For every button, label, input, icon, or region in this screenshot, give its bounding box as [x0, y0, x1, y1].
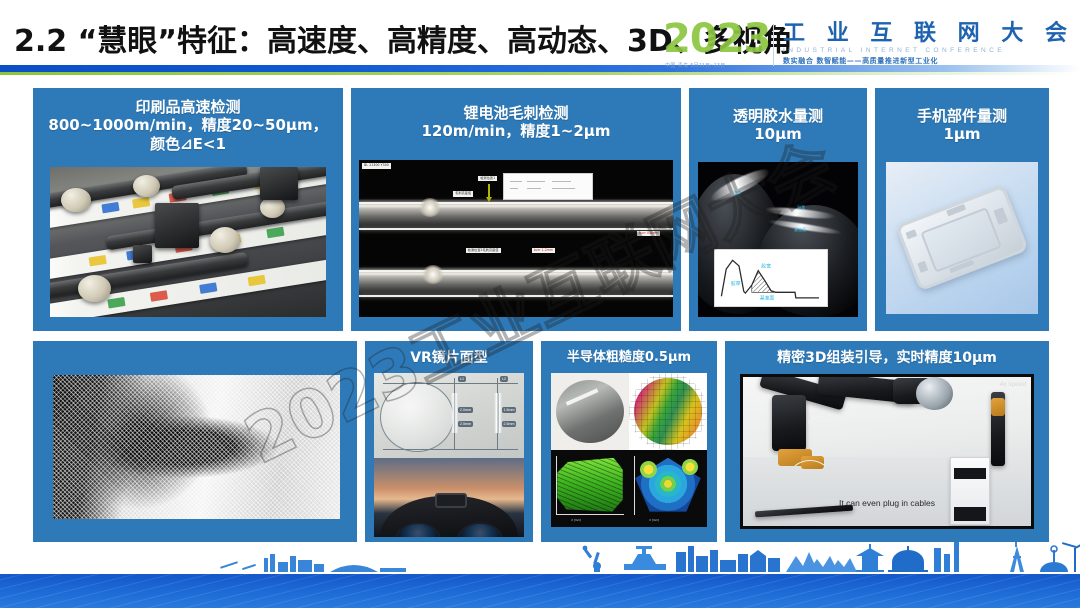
- battery-burr-microscope-image: BL 21300 Y300 检测位置1 毛刺高度值 burr 0.8mm 检测位…: [359, 160, 673, 317]
- panel-print-title-line3: 颜色⊿E<1: [41, 135, 335, 153]
- glue-profile-chart: 胶厚 胶宽 基准面: [715, 250, 827, 306]
- city-skyline-graphic: [0, 542, 1080, 576]
- wafer-roughness-four-views: X [mm] X [mm]: [551, 373, 707, 527]
- logo-year-block: 2023 中国·青岛 5月11日~13日: [663, 22, 771, 74]
- panel-battery-title-line2: 120m/min，精度1~2μm: [359, 122, 673, 140]
- panel-print-title: 印刷品高速检测 800~1000m/min，精度20~50μm， 颜色⊿E<1: [41, 98, 335, 153]
- vr-lens-profile-and-headset: L1 L2 2.0mm 2.5mm 1.5mm 2.5mm: [374, 373, 524, 537]
- video-caption: It can even plug in cables: [743, 498, 1031, 508]
- panel-glue-title-line2: 10μm: [693, 125, 863, 143]
- panel-vr-title-line1: VR镜片面型: [369, 350, 529, 367]
- panel-semi-title: 半导体粗糙度0.5μm: [544, 350, 714, 366]
- svg-text:基准面: 基准面: [760, 294, 775, 301]
- wafer-interference-cell: [629, 373, 707, 450]
- panel-battery-title-line1: 锂电池毛刺检测: [359, 104, 673, 122]
- logo-name-block: 工 业 互 联 网 大 会 INDUSTRIAL INTERNET CONFER…: [783, 22, 1074, 66]
- logo-year: 2023: [663, 16, 770, 62]
- panel-semiconductor-roughness: 半导体粗糙度0.5μm X [mm]: [541, 341, 717, 543]
- panel-robot-title: 精密3D组装引导，实时精度10μm: [731, 350, 1043, 367]
- robot-arm-video[interactable]: 4x speed It can even plug in cables: [740, 374, 1034, 529]
- svg-text:胶厚: 胶厚: [731, 280, 741, 287]
- logo-slogan: 数实融合 数智赋能——高质量推进新型工业化: [783, 56, 1074, 66]
- logo-date: 中国·青岛 5月11日~13日: [665, 62, 726, 69]
- surface-3d-green-cell: X [mm]: [551, 450, 629, 527]
- logo-chinese-name: 工 业 互 联 网 大 会: [783, 22, 1074, 46]
- conference-logo: 2023 中国·青岛 5月11日~13日 工 业 互 联 网 大 会 INDUS…: [663, 22, 1074, 74]
- content-grid: 印刷品高速检测 800~1000m/min，精度20~50μm， 颜色⊿E<1: [33, 88, 1049, 543]
- panel-transparent-glue: 透明胶水量测 10μm 胶厚 胶宽 基准面: [689, 88, 867, 331]
- logo-divider: [773, 24, 774, 66]
- panel-phone-title: 手机部件量测 1μm: [879, 107, 1045, 144]
- logo-english-name: INDUSTRIAL INTERNET CONFERENCE: [783, 47, 1074, 54]
- panel-battery-title: 锂电池毛刺检测 120m/min，精度1~2μm: [359, 104, 673, 141]
- panel-phone-part: 手机部件量测 1μm: [875, 88, 1049, 331]
- slide-footer: [0, 542, 1080, 608]
- glue-profile-image: 胶厚 胶宽 基准面 胶厚 胶宽: [698, 162, 858, 317]
- panel-print-inspection: 印刷品高速检测 800~1000m/min，精度20~50μm， 颜色⊿E<1: [33, 88, 343, 331]
- surface-3d-blue-cell: X [mm]: [629, 450, 707, 527]
- panel-robot-title-line1: 精密3D组装引导，实时精度10μm: [731, 350, 1043, 367]
- panel-semi-title-line1: 半导体粗糙度0.5μm: [544, 350, 714, 366]
- panel-glue-title-line1: 透明胶水量测: [693, 107, 863, 125]
- slide-root: 2.2 “慧眼”特征：高速度、高精度、高动态、3D、多视角 2023 中国·青岛…: [0, 0, 1080, 608]
- halftone-eye-print: [53, 375, 340, 519]
- phone-frame-render: [886, 162, 1038, 314]
- panel-halftone-eye: [33, 341, 357, 543]
- panel-glue-title: 透明胶水量测 10μm: [693, 107, 863, 144]
- footer-sea-band: [0, 574, 1080, 608]
- video-speed-label: 4x speed: [1000, 381, 1026, 388]
- svg-text:胶宽: 胶宽: [761, 262, 771, 269]
- panel-print-title-line1: 印刷品高速检测: [41, 98, 335, 116]
- panel-print-title-line2: 800~1000m/min，精度20~50μm，: [41, 116, 335, 134]
- printing-press-photo: [50, 167, 326, 317]
- panel-vr-title: VR镜片面型: [369, 350, 529, 367]
- panel-phone-title-line2: 1μm: [879, 125, 1045, 143]
- panel-battery-burr: 锂电池毛刺检测 120m/min，精度1~2μm BL 21300 Y300 检…: [351, 88, 681, 331]
- panel-vr-lens: VR镜片面型 L1 L2 2.0mm 2.5mm 1.5mm 2.5mm: [365, 341, 533, 543]
- panel-precision-3d-assembly: 精密3D组装引导，实时精度10μm: [725, 341, 1049, 543]
- panel-phone-title-line1: 手机部件量测: [879, 107, 1045, 125]
- wafer-photo-cell: [551, 373, 629, 450]
